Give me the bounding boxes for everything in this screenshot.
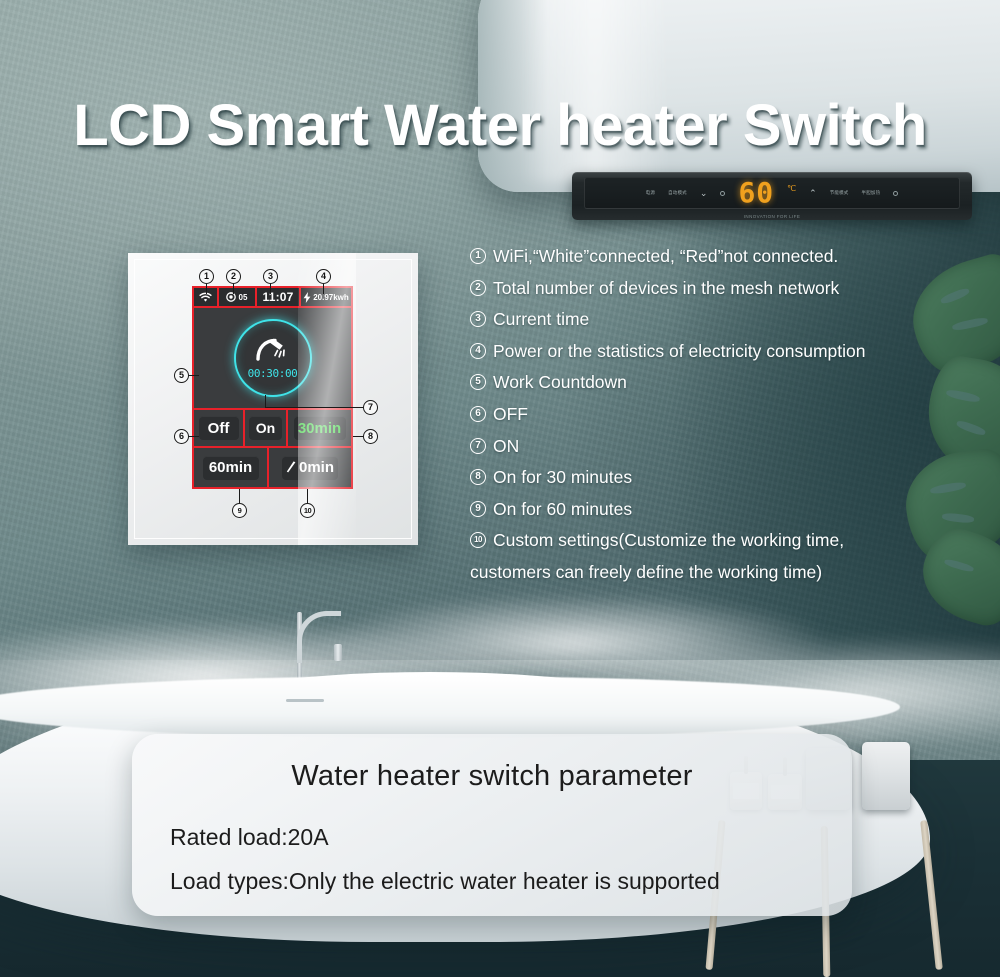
parameter-card-title: Water heater switch parameter [132, 760, 852, 793]
heater-chevron-down-icon: ⌄ [700, 188, 708, 199]
callout-leader-4 [323, 284, 324, 294]
feature-text: Current time [493, 304, 589, 336]
shower-dial[interactable]: 00:30:00 [234, 319, 312, 397]
mesh-device-count: 05 [238, 293, 247, 302]
feature-text: Total number of devices in the mesh netw… [493, 273, 839, 305]
feature-text: On for 30 minutes [493, 462, 632, 494]
off-button[interactable]: Off [199, 416, 239, 440]
callout-1: 1 [199, 269, 214, 284]
callout-leader-10 [307, 489, 308, 503]
callout-leader-3 [270, 284, 271, 294]
callout-leader-5 [189, 375, 199, 376]
bathtub-rim [0, 676, 900, 738]
callout-leader-2 [233, 284, 234, 294]
feature-number: 6 [470, 406, 486, 422]
pencil-edit-icon [286, 461, 297, 474]
on-button[interactable]: On [249, 416, 282, 440]
feature-number: 1 [470, 248, 486, 264]
feature-item-10-continuation: customers can freely define the working … [470, 557, 990, 589]
feature-number: 4 [470, 343, 486, 359]
feature-number: 5 [470, 374, 486, 390]
preset-30min-button[interactable]: 30min [294, 416, 346, 440]
preset-60-cell[interactable]: 60min [192, 446, 269, 489]
feature-item-6: 6 OFF [470, 399, 990, 431]
feature-number: 8 [470, 469, 486, 485]
feature-text: WiFi,“White”connected, “Red”not connecte… [493, 241, 838, 273]
callout-10: 10 [300, 503, 315, 518]
callout-4: 4 [316, 269, 331, 284]
callout-6: 6 [174, 429, 189, 444]
callout-5: 5 [174, 368, 189, 383]
custom-time-button[interactable]: 0min [282, 456, 338, 480]
callout-9: 9 [232, 503, 247, 518]
feature-list: 1 WiFi,“White”connected, “Red”not connec… [470, 241, 990, 589]
parameter-rated-load: Rated load:20A [170, 824, 329, 851]
lightning-bolt-icon [303, 292, 311, 303]
callout-leader-8 [353, 436, 363, 437]
status-mesh-cell[interactable]: 05 [217, 286, 257, 308]
smart-switch-panel: 05 11:07 20.97kwh 00:30:00 [128, 253, 418, 545]
preset-60min-button[interactable]: 60min [203, 456, 259, 480]
bathtub-overflow [286, 699, 324, 702]
heater-control-panel: 电源 自动模式 ⌄ 60 ℃ ⌃ 节能模式 半胆加热 INNOVATION FO… [572, 172, 972, 220]
heater-power-ring-icon [893, 191, 898, 196]
heater-brand-subtitle: INNOVATION FOR LIFE [572, 214, 972, 219]
status-bar: 05 11:07 20.97kwh [192, 286, 353, 308]
feature-item-1: 1 WiFi,“White”connected, “Red”not connec… [470, 241, 990, 273]
feature-item-5: 5 Work Countdown [470, 367, 990, 399]
glass-jar [862, 742, 910, 810]
feature-text-continuation: customers can freely define the working … [470, 557, 822, 589]
heater-chevron-up-icon: ⌃ [809, 188, 817, 199]
work-countdown-region[interactable]: 00:30:00 [192, 306, 353, 410]
button-row-secondary: 60min 0min [192, 446, 353, 489]
countdown-timer: 00:30:00 [248, 367, 298, 380]
feature-number: 2 [470, 280, 486, 296]
power-consumption: 20.97kwh [313, 293, 349, 302]
feature-item-2: 2 Total number of devices in the mesh ne… [470, 273, 990, 305]
heater-label-power: 电源 [646, 190, 655, 196]
feature-item-8: 8 On for 30 minutes [470, 462, 990, 494]
callout-leader-7 [265, 407, 363, 408]
off-cell[interactable]: Off [192, 408, 245, 448]
feature-item-9: 9 On for 60 minutes [470, 494, 990, 526]
heater-label-auto: 自动模式 [668, 190, 687, 196]
feature-text: On for 60 minutes [493, 494, 632, 526]
feature-text: Power or the statistics of electricity c… [493, 336, 866, 368]
feature-number: 3 [470, 311, 486, 327]
feature-number: 7 [470, 438, 486, 454]
callout-leader-6 [189, 436, 199, 437]
callout-8: 8 [363, 429, 378, 444]
feature-item-10: 10 Custom settings(Customize the working… [470, 525, 990, 557]
feature-number: 9 [470, 501, 486, 517]
feature-item-3: 3 Current time [470, 304, 990, 336]
feature-item-7: 7 ON [470, 431, 990, 463]
mesh-network-icon [226, 292, 236, 302]
shower-head-icon [256, 337, 290, 363]
callout-3: 3 [263, 269, 278, 284]
callout-7: 7 [363, 400, 378, 415]
callout-leader-7-drop [265, 395, 266, 408]
heater-temperature-unit: ℃ [787, 184, 796, 193]
lcd-screen: 05 11:07 20.97kwh 00:30:00 [192, 286, 353, 489]
heater-label-eco: 节能模式 [830, 190, 849, 196]
parameter-card: Water heater switch parameter Rated load… [132, 734, 852, 916]
current-time: 11:07 [262, 290, 293, 304]
callout-2: 2 [226, 269, 241, 284]
button-row-primary: Off On 30min [192, 408, 353, 448]
status-power-cell[interactable]: 20.97kwh [299, 286, 353, 308]
page-title: LCD Smart Water heater Switch [0, 92, 1000, 159]
feature-text: OFF [493, 399, 528, 431]
on-cell[interactable]: On [243, 408, 288, 448]
feature-item-4: 4 Power or the statistics of electricity… [470, 336, 990, 368]
custom-time-value: 0min [299, 459, 334, 476]
feature-text: ON [493, 431, 519, 463]
feature-text: Custom settings(Customize the working ti… [493, 525, 844, 557]
heater-temperature-value: 60 [738, 179, 774, 207]
heater-label-half: 半胆加热 [862, 190, 881, 196]
callout-leader-1 [206, 284, 207, 294]
heater-indicator-dot-icon [720, 191, 725, 196]
callout-leader-9 [239, 489, 240, 503]
custom-cell[interactable]: 0min [267, 446, 353, 489]
status-time-cell[interactable]: 11:07 [255, 286, 301, 308]
feature-number: 10 [470, 532, 486, 548]
preset-30-cell[interactable]: 30min [286, 408, 353, 448]
feature-text: Work Countdown [493, 367, 627, 399]
faucet-head [334, 644, 342, 661]
parameter-load-types: Load types:Only the electric water heate… [170, 868, 720, 895]
